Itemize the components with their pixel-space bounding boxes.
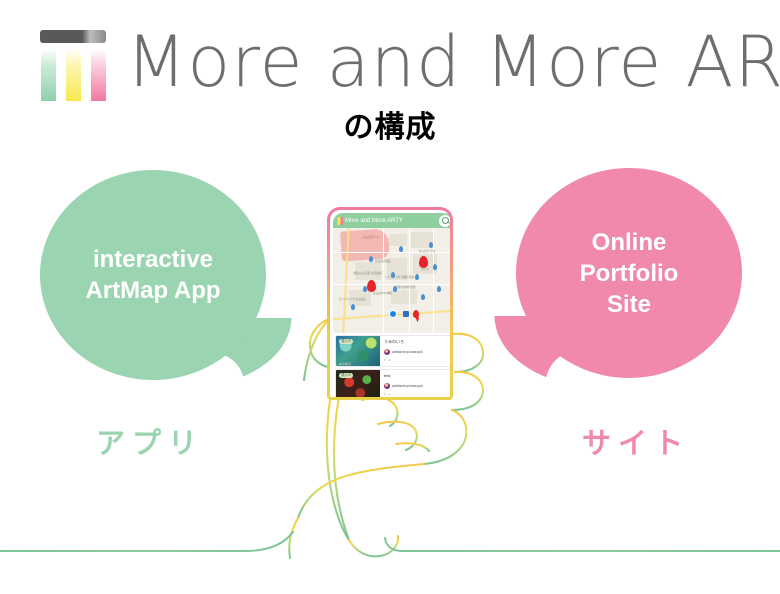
search-icon[interactable] — [439, 215, 451, 227]
bubble-site-label: Online Portfolio Site — [568, 227, 691, 320]
list-item[interactable]: 展示中 test satisfactory.katsuyuki 2 1 — [335, 369, 451, 400]
bubble-app[interactable]: interactive ArtMap App — [40, 170, 266, 380]
artwork-thumbnail[interactable]: 展示中 — [336, 370, 380, 400]
stat-likes: 2 — [384, 392, 386, 396]
logo-column-yellow-icon — [66, 49, 81, 101]
map-view[interactable]: なんばグリ-ド 高島屋大阪店 なんばパ-クス 大阪なんば 道り高島屋店 シティプ… — [333, 228, 453, 333]
caption-site: サイト — [516, 424, 756, 462]
author-row[interactable]: satisfactory.katsuyuki — [384, 349, 447, 355]
map-poi-icon[interactable] — [393, 286, 397, 292]
avatar — [384, 349, 390, 355]
map-poi-icon[interactable] — [415, 274, 419, 280]
map-label: シティプラザ 大阪高島屋 — [385, 276, 414, 279]
logo-bar-icon — [40, 30, 106, 43]
map-label: 大阪なんば 道り高島屋店 — [353, 272, 382, 275]
map-road — [383, 228, 384, 333]
map-poi-icon[interactable] — [421, 294, 425, 300]
map-label: なんばCITY本館 — [373, 292, 392, 295]
map-pin-selected[interactable] — [413, 310, 419, 318]
author-name: satisfactory.katsuyuki — [392, 384, 424, 389]
phone-frame: More and More ARTY — [327, 207, 453, 400]
stat-likes: 6 — [384, 358, 386, 362]
slide-root: More and More ARTY の構成 interactive ArtMa… — [0, 0, 780, 594]
page-title: More and More ARTY — [126, 22, 780, 102]
artwork-title: test — [384, 373, 447, 379]
map-pin-selected[interactable] — [367, 280, 376, 292]
map-label: 高島屋大阪店 — [375, 260, 391, 263]
map-road — [409, 228, 410, 333]
thumbnail-caption: 水の情景 — [339, 362, 351, 366]
map-poi-icon[interactable] — [351, 304, 355, 310]
map-block — [355, 262, 381, 280]
list-item[interactable]: 展示中 水の情景 うみのいろ satisfactory.katsuyuki 6 — [335, 335, 451, 367]
map-label: なんばパ-クス — [419, 250, 435, 253]
map-label: ホテル — [421, 268, 429, 271]
bubble-app-label: interactive ArtMap App — [73, 244, 232, 306]
stat-comments: 3 — [389, 358, 391, 362]
artwork-list[interactable]: 展示中 水の情景 うみのいろ satisfactory.katsuyuki 6 — [333, 333, 453, 400]
artwork-thumbnail[interactable]: 展示中 水の情景 — [336, 336, 380, 367]
logo-column-green-icon — [41, 49, 56, 101]
map-poi-icon[interactable] — [391, 272, 395, 278]
map-poi-icon[interactable] — [369, 256, 373, 262]
artwork-title: うみのいろ — [384, 339, 447, 345]
map-label: なんばグリ-ド — [363, 236, 379, 239]
map-poi-icon[interactable] — [399, 246, 403, 252]
map-block — [391, 290, 417, 304]
map-label: 大阪府立体育会館 — [395, 286, 416, 289]
arty-logo-mark — [38, 30, 110, 102]
status-badge: 展示中 — [339, 373, 353, 378]
phone-screen[interactable]: More and More ARTY — [333, 213, 453, 400]
map-road — [333, 284, 453, 285]
map-marker-chip[interactable] — [403, 311, 409, 317]
stats-row: 2 1 — [384, 392, 447, 396]
caption-app: アプリ — [30, 424, 270, 462]
page-subtitle: の構成 — [0, 108, 780, 148]
logo-column-pink-icon — [91, 49, 106, 101]
map-road — [433, 228, 434, 333]
app-logo-icon — [335, 217, 343, 225]
map-pin-selected[interactable] — [419, 256, 428, 268]
map-user-location-icon — [389, 310, 397, 318]
stat-comments: 1 — [389, 392, 391, 396]
stats-row: 6 3 — [384, 358, 447, 362]
app-title: More and More ARTY — [345, 217, 439, 225]
list-item-body: うみのいろ satisfactory.katsuyuki 6 3 — [380, 336, 450, 366]
header: More and More ARTY の構成 — [0, 0, 780, 165]
map-block — [389, 234, 407, 246]
map-poi-icon[interactable] — [433, 264, 437, 270]
bubble-site[interactable]: Online Portfolio Site — [516, 168, 742, 378]
phone-mockup: More and More ARTY — [327, 207, 453, 400]
map-poi-icon[interactable] — [429, 242, 433, 248]
author-name: satisfactory.katsuyuki — [392, 350, 424, 355]
list-item-body: test satisfactory.katsuyuki 2 1 — [380, 370, 450, 400]
map-poi-icon[interactable] — [437, 286, 441, 292]
app-header-bar: More and More ARTY — [333, 213, 453, 228]
status-badge: 展示中 — [339, 339, 353, 344]
author-row[interactable]: satisfactory.katsuyuki — [384, 383, 447, 389]
map-label: ビックカメラ なんば店 — [339, 298, 366, 301]
avatar — [384, 383, 390, 389]
